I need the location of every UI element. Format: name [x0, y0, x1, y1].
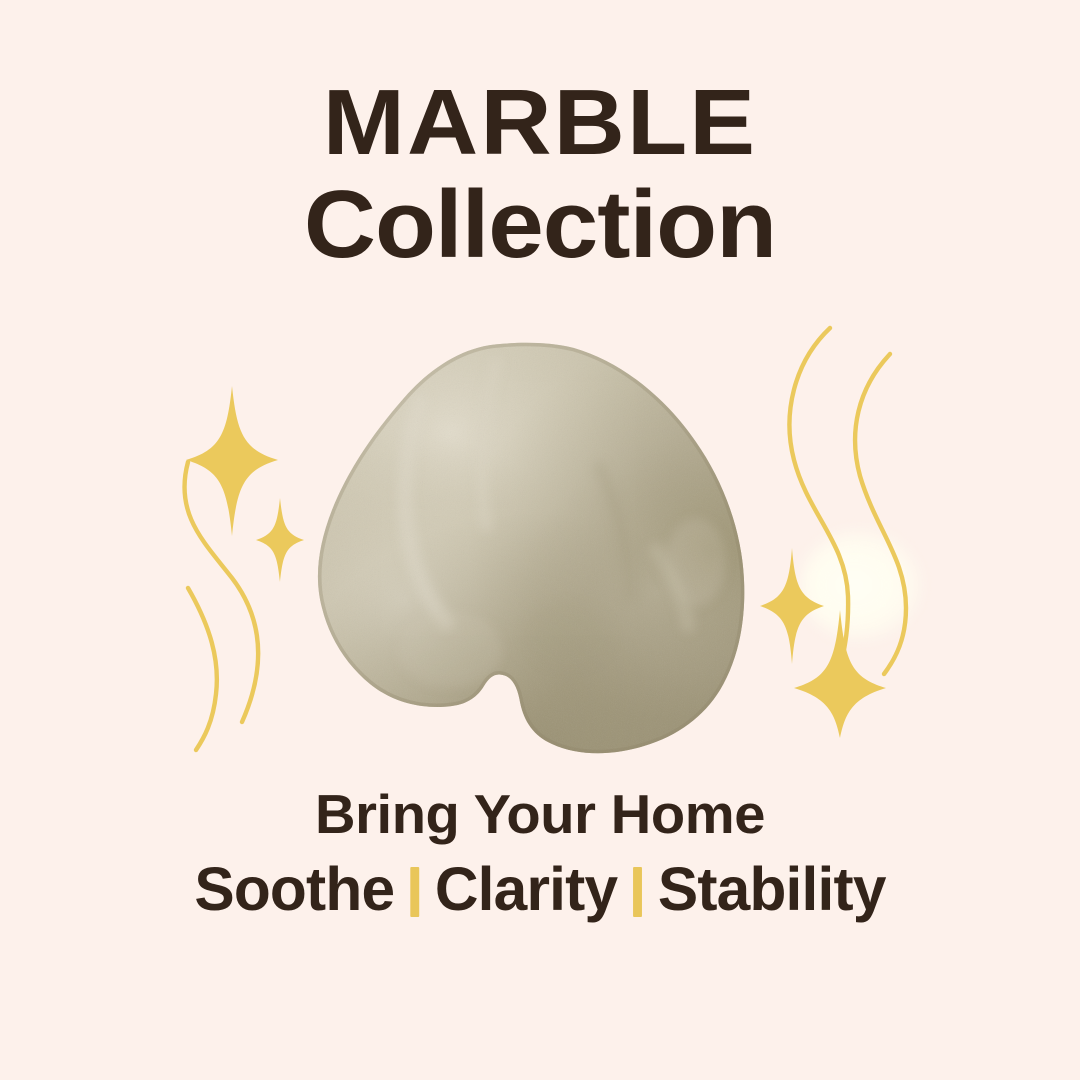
benefit-divider-1 — [410, 867, 419, 917]
marble-stone-image — [300, 340, 770, 760]
tagline-block: Bring Your Home SootheClarityStability — [0, 786, 1080, 920]
tagline-primary: Bring Your Home — [0, 786, 1080, 842]
benefit-soothe: Soothe — [194, 855, 394, 923]
benefit-divider-2 — [633, 867, 642, 917]
sparkle-large-right-icon — [794, 610, 886, 738]
decoration-right — [760, 310, 950, 740]
headline-secondary: Collection — [0, 179, 1080, 271]
wave-right-right-icon — [855, 354, 906, 674]
sparkle-large-left-icon — [186, 386, 278, 536]
headline-primary: MARBLE — [0, 78, 1080, 167]
tagline-benefits: SootheClarityStability — [5, 858, 1074, 920]
poster-canvas: MARBLE Collection — [0, 0, 1080, 1080]
benefit-stability: Stability — [658, 855, 886, 923]
sparkle-small-left-icon — [256, 498, 304, 582]
wave-outer-left-icon — [184, 462, 258, 722]
benefit-clarity: Clarity — [435, 855, 617, 923]
stone-body — [300, 340, 770, 760]
headline-block: MARBLE Collection — [0, 78, 1080, 271]
wave-inner-left-icon — [188, 588, 217, 750]
